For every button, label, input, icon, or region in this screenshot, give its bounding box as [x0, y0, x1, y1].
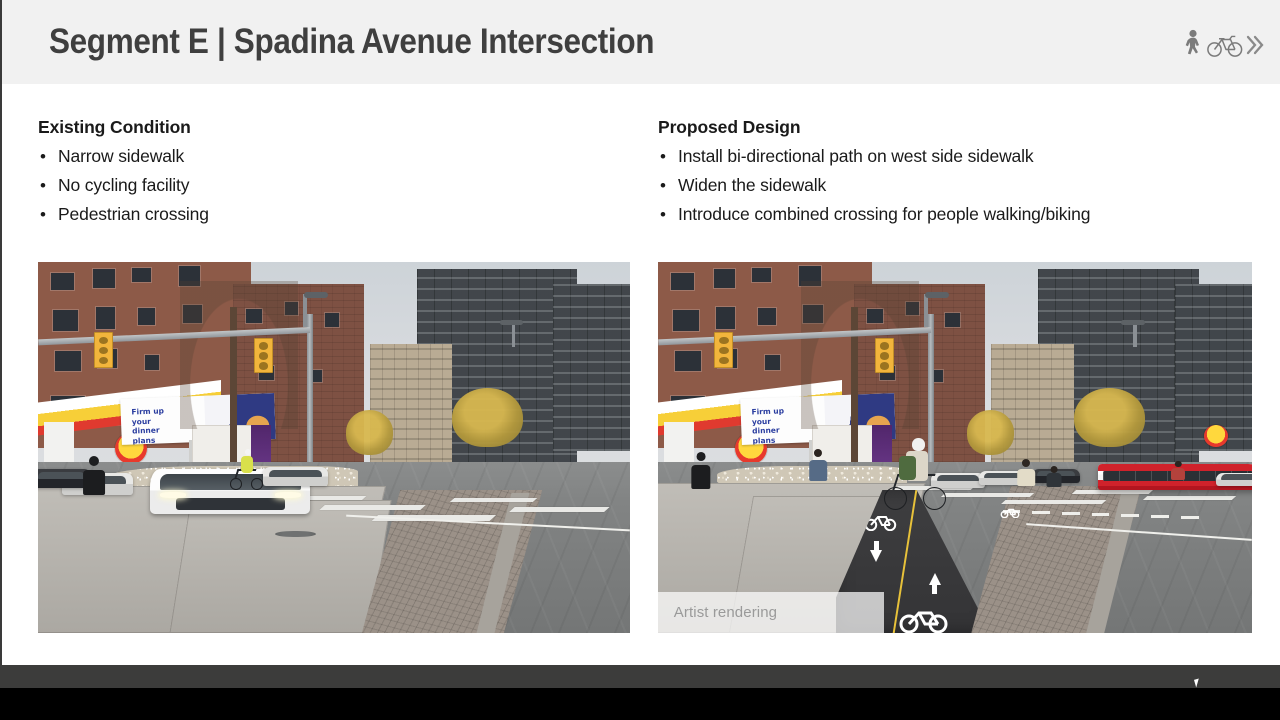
left-edge-rail: [0, 0, 2, 665]
pedestrian-crossing-child: [1044, 466, 1064, 495]
autumn-tree: [452, 388, 523, 447]
street-light: [500, 320, 524, 326]
list-item: Widen the sidewalk: [658, 171, 1258, 200]
sidewalk: [170, 500, 392, 633]
bicycle-stencil: [898, 607, 950, 633]
traffic-signal: [254, 338, 273, 373]
pedestrian-walking: [1169, 461, 1188, 488]
pedestrian-crossing-adult: [1014, 459, 1038, 497]
pedestrian-dark-coat: [688, 452, 714, 503]
bike-crossing-dashes: [1121, 514, 1139, 517]
presentation-bottom-band: [0, 665, 1280, 688]
bike-crossing-dashes: [1062, 512, 1080, 515]
traffic-signal: [714, 332, 733, 367]
bicycle-icon: [1206, 32, 1244, 58]
street-light: [1121, 320, 1145, 326]
directional-arrow-up: [929, 573, 941, 585]
existing-condition-bullets: Narrow sidewalk No cycling facility Pede…: [38, 142, 638, 229]
pedestrian-dark-coat: [79, 456, 109, 511]
artist-rendering-watermark: Artist rendering: [658, 592, 884, 633]
autumn-tree: [967, 410, 1015, 455]
traffic-signal: [94, 332, 113, 367]
slide-root: Segment E | Spadina Avenue Intersection: [0, 0, 1280, 720]
silver-sedan: [263, 467, 328, 486]
bicycle-stencil: [1000, 507, 1020, 518]
list-item: No cycling facility: [38, 171, 638, 200]
pedestrian-walking: [807, 449, 831, 493]
pedestrian-walking-icon: [1184, 29, 1204, 61]
existing-condition-heading: Existing Condition: [38, 117, 638, 138]
autumn-tree: [346, 410, 393, 455]
slide-header: Segment E | Spadina Avenue Intersection: [2, 0, 1280, 84]
street-light: [925, 292, 949, 298]
list-item: Narrow sidewalk: [38, 142, 638, 171]
autumn-tree: [1074, 388, 1145, 447]
double-chevron-icon: [1246, 32, 1264, 58]
helmet-icon: [912, 438, 924, 450]
slide-body: Existing Condition Narrow sidewalk No cy…: [0, 84, 1280, 659]
cyclist-green-backpack: [884, 438, 949, 510]
list-item: Introduce combined crossing for people w…: [658, 200, 1258, 229]
bike-crossing-dashes: [1032, 511, 1050, 514]
proposed-design-rendering: Firm up your dinner plans: [658, 262, 1252, 633]
white-sedan: [1216, 473, 1252, 487]
cyclist-yellow-vest: [230, 449, 263, 490]
bare-tree: [801, 281, 920, 429]
bike-crossing-dashes: [1181, 516, 1199, 519]
bare-tree: [180, 281, 298, 429]
page-title: Segment E | Spadina Avenue Intersection: [49, 22, 654, 62]
backpack: [899, 456, 916, 480]
bike-crossing-dashes: [1151, 515, 1169, 518]
letterbox-area: [0, 688, 1280, 720]
traffic-signal: [875, 338, 894, 373]
existing-condition-photo: Firm up your dinner plans: [38, 262, 630, 633]
roadway: [38, 462, 630, 633]
proposed-design-bullets: Install bi-directional path on west side…: [658, 142, 1258, 229]
bike-crossing-dashes: [1092, 513, 1110, 516]
column-proposed-design: Proposed Design Install bi-directional p…: [658, 84, 1258, 229]
street-light: [304, 292, 328, 298]
list-item: Pedestrian crossing: [38, 200, 638, 229]
glass-tower: [553, 284, 630, 451]
artist-rendering-label: Artist rendering: [674, 604, 777, 621]
list-item: Install bi-directional path on west side…: [658, 142, 1258, 171]
column-existing-condition: Existing Condition Narrow sidewalk No cy…: [38, 84, 638, 229]
proposed-design-heading: Proposed Design: [658, 117, 1258, 138]
brand-logo: [1176, 26, 1264, 64]
directional-arrow-down: [870, 550, 882, 562]
